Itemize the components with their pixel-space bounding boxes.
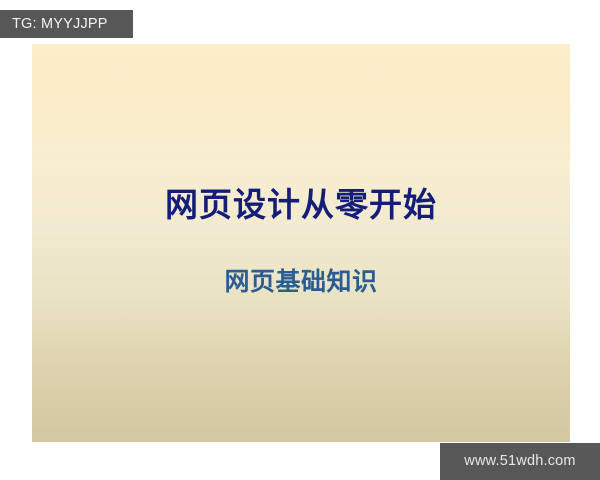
tg-watermark-badge: TG: MYYJJPP	[0, 10, 133, 38]
slide-subtitle: 网页基础知识	[32, 266, 570, 298]
screen-root: 网页设计从零开始 网页基础知识 TG: MYYJJPP www.51wdh.co…	[0, 0, 600, 480]
slide-title: 网页设计从零开始	[32, 184, 570, 226]
site-watermark-badge: www.51wdh.com	[440, 443, 600, 480]
presentation-slide[interactable]: 网页设计从零开始 网页基础知识	[32, 44, 570, 442]
